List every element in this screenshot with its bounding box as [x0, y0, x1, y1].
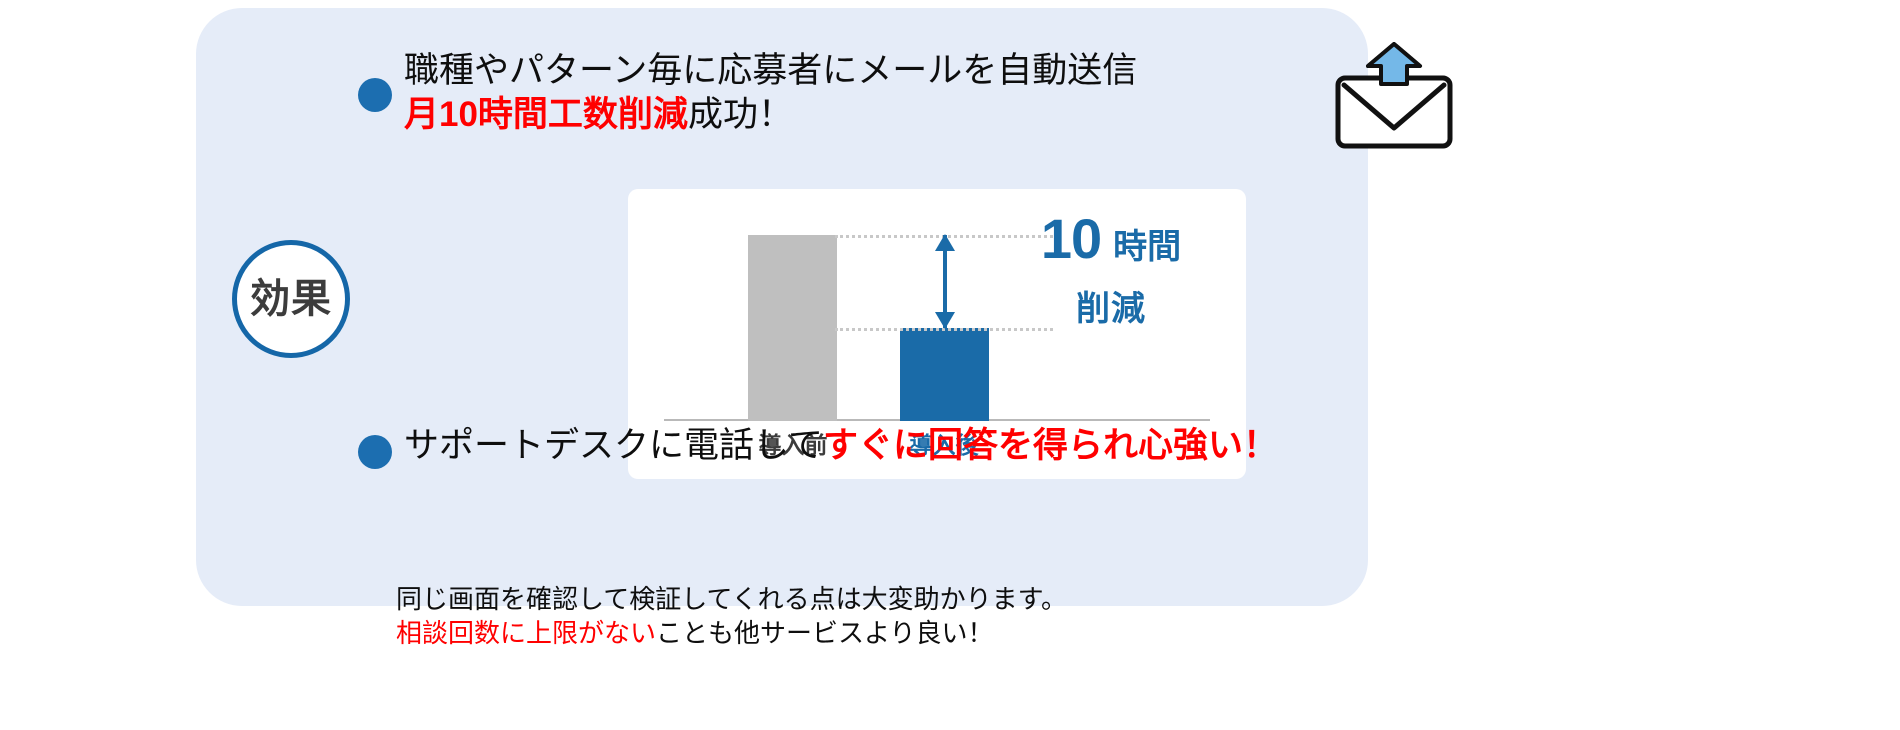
bullet-1-line-2: 月10時間工数削減成功！ — [404, 94, 1104, 137]
arrow-head-up — [935, 234, 955, 251]
envelope-send-icon — [1328, 42, 1460, 150]
subtext-line-2-highlight: 相談回数に上限がない — [396, 618, 656, 648]
reduction-callout: 10時間 削減 — [996, 211, 1226, 330]
bullet-dot-1 — [358, 78, 392, 112]
bar-before — [748, 235, 837, 421]
callout-row-2: 削減 — [996, 281, 1226, 330]
bullet-2-text: サポートデスクに電話してすぐに回答を得られ心強い！ — [404, 425, 1284, 467]
bullet-2-line-1: サポートデスクに電話してすぐに回答を得られ心強い！ — [404, 425, 1284, 467]
bullet-2-subtext: 同じ画面を確認して検証してくれる点は大変助かります。 相談回数に上限がないことも… — [396, 582, 1196, 651]
callout-big-number: 10 — [1041, 207, 1101, 270]
subtext-line-2: 相談回数に上限がないことも他サービスより良い！ — [396, 616, 1196, 650]
bullet-1-line-2-tail: 成功！ — [688, 95, 793, 134]
bullet-2-line-1-lead: サポートデスクに電話して — [404, 426, 823, 465]
callout-unit: 時間 — [1113, 228, 1181, 266]
bullet-1-line-2-highlight: 月10時間工数削減 — [404, 95, 688, 134]
callout-row-1: 10時間 — [996, 211, 1226, 267]
bar-after — [900, 328, 989, 421]
arrow-head-down — [935, 312, 955, 329]
slide-canvas: 効果 職種やパターン毎に応募者にメールを自動送信 月10時間工数削減成功！ — [0, 0, 1900, 730]
bullet-1-text: 職種やパターン毎に応募者にメールを自動送信 月10時間工数削減成功！ — [404, 50, 1104, 136]
effect-badge-label: 効果 — [250, 279, 332, 319]
bullet-dot-2 — [358, 435, 392, 469]
effect-badge: 効果 — [232, 240, 350, 358]
bullet-2-line-1-highlight: すぐに回答を得られ心強い！ — [823, 426, 1278, 465]
bullet-1-line-1: 職種やパターン毎に応募者にメールを自動送信 — [404, 50, 1104, 93]
subtext-line-2-tail: ことも他サービスより良い！ — [656, 618, 993, 648]
subtext-line-1: 同じ画面を確認して検証してくれる点は大変助かります。 — [396, 582, 1196, 616]
reduction-arrow — [941, 235, 949, 328]
